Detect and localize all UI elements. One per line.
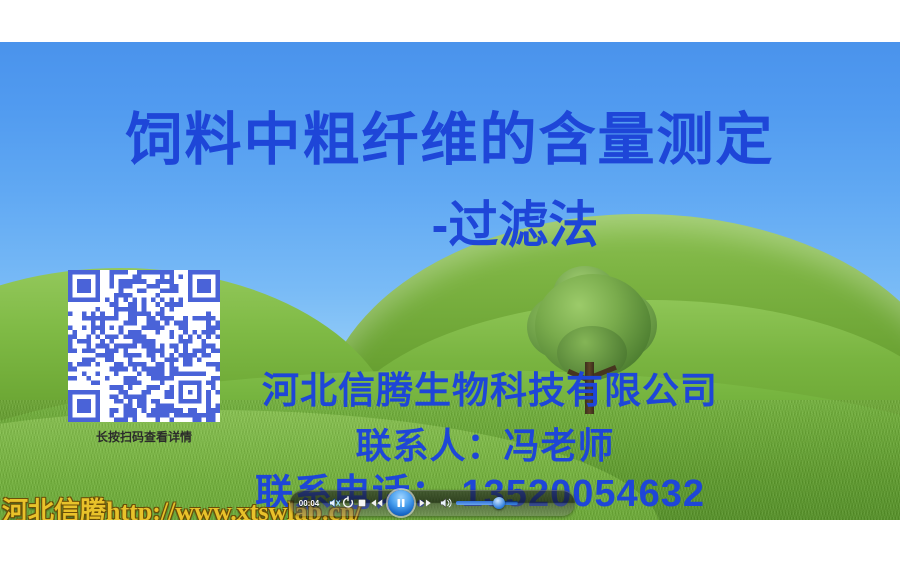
mute-icon xyxy=(327,496,341,510)
fast-forward-button[interactable] xyxy=(417,492,433,514)
refresh-button[interactable] xyxy=(341,492,355,514)
speaker-icon xyxy=(438,496,452,510)
company-name-text: 河北信腾生物科技有限公司 xyxy=(0,360,900,414)
refresh-icon xyxy=(341,496,355,510)
playback-time-display: 00:04 xyxy=(296,499,322,508)
volume-slider-handle[interactable] xyxy=(493,497,505,509)
mute-button[interactable] xyxy=(327,492,341,514)
rewind-icon xyxy=(369,496,385,510)
volume-slider[interactable] xyxy=(456,501,518,505)
rewind-button[interactable] xyxy=(369,492,385,514)
fast-forward-icon xyxy=(417,496,433,510)
stop-button[interactable] xyxy=(355,492,369,514)
slide-title-main: 饲料中粗纤维的含量测定 xyxy=(0,111,900,171)
play-pause-button[interactable] xyxy=(388,490,414,516)
screenshot-root: 饲料中粗纤维的含量测定 -过滤法 长按扫码查看详情 河北信腾生物科技有限公司 联… xyxy=(0,0,900,561)
pause-icon xyxy=(395,497,407,509)
volume-button[interactable] xyxy=(438,492,452,514)
media-controls-bar[interactable]: 00:04 xyxy=(290,490,575,516)
video-player-viewport[interactable]: 饲料中粗纤维的含量测定 -过滤法 长按扫码查看详情 河北信腾生物科技有限公司 联… xyxy=(0,42,900,520)
slide-title-subtitle: -过滤法 xyxy=(0,185,900,257)
time-display-wrapper: 00:04 xyxy=(296,492,322,514)
stop-icon xyxy=(355,496,369,510)
